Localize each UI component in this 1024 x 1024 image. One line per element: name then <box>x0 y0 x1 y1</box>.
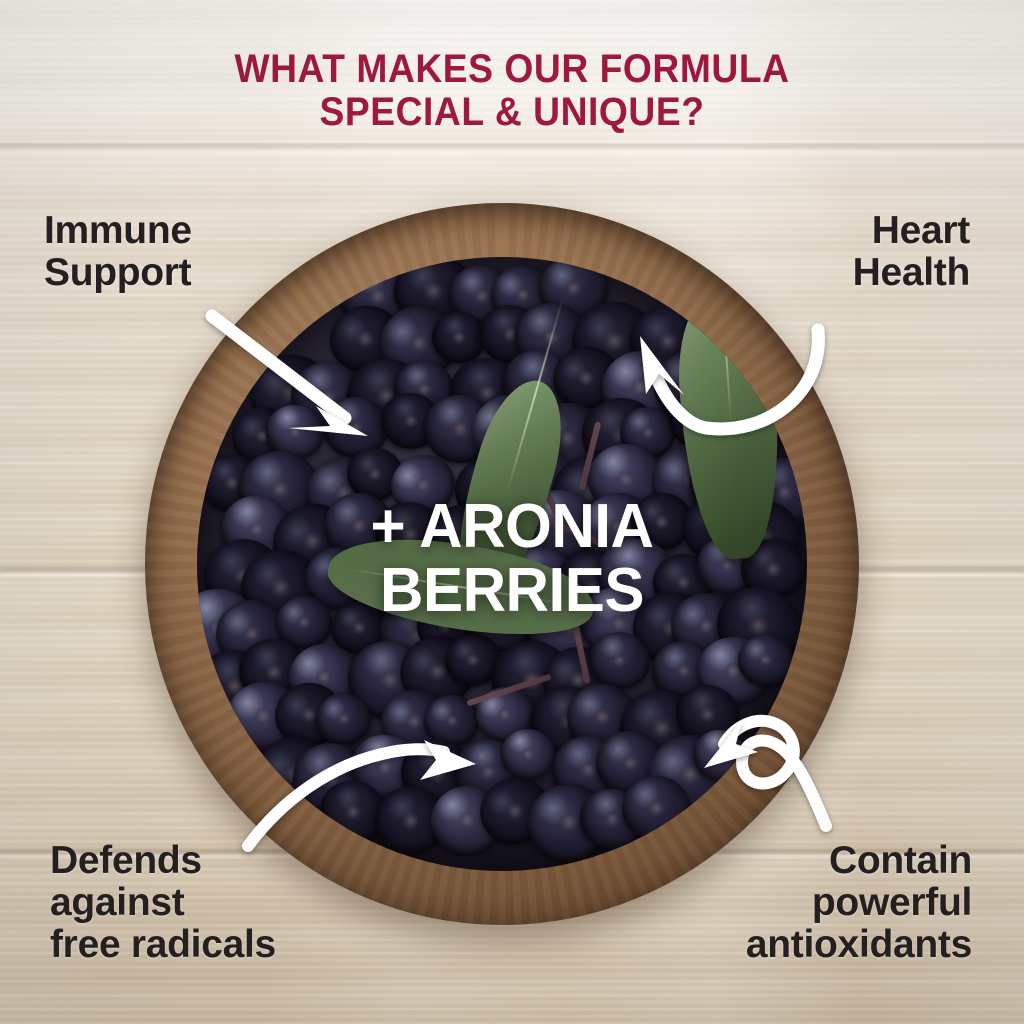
benefit-line: powerful <box>746 882 972 924</box>
wordmark-line-1: + ARONIA <box>371 492 654 561</box>
benefit-line: Contain <box>746 840 972 882</box>
plank-seam-top-highlight <box>0 150 1024 154</box>
benefit-line: Immune <box>44 210 192 252</box>
benefit-line: Defends <box>50 840 276 882</box>
benefit-line: Heart <box>853 210 970 252</box>
headline-line-1: WHAT MAKES OUR FORMULA <box>234 47 789 91</box>
benefit-line: antioxidants <box>746 924 972 966</box>
plank-seam-top <box>0 143 1024 150</box>
benefit-line: free radicals <box>50 924 276 966</box>
product-wordmark: + ARONIA BERRIES <box>15 495 1008 623</box>
benefit-label-heart-health: Heart Health <box>853 210 970 294</box>
benefit-line: against <box>50 882 276 924</box>
benefit-label-immune-support: Immune Support <box>44 210 192 294</box>
infographic-canvas: WHAT MAKES OUR FORMULA SPECIAL & UNIQUE?… <box>0 0 1024 1024</box>
wordmark-line-2: BERRIES <box>15 559 1008 623</box>
benefit-line: Health <box>853 252 970 294</box>
benefit-label-free-radicals: Defends against free radicals <box>50 840 276 966</box>
benefit-line: Support <box>44 252 192 294</box>
aronia-berry <box>622 776 691 841</box>
headline-line-2: SPECIAL & UNIQUE? <box>36 91 988 134</box>
headline: WHAT MAKES OUR FORMULA SPECIAL & UNIQUE? <box>36 48 988 134</box>
benefit-label-antioxidants: Contain powerful antioxidants <box>746 840 972 966</box>
